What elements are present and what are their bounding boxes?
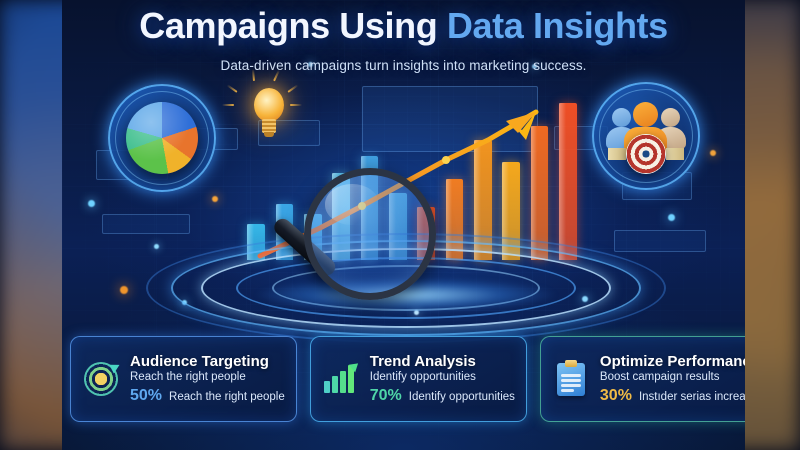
- bokeh-dot: [668, 214, 675, 221]
- hud-rect: [102, 214, 190, 234]
- clipboard-line: [561, 374, 581, 377]
- card-stat-label: Instıder serias increase returns: [639, 391, 745, 403]
- card-text: Trend Analysis Identify opportunities 70…: [370, 353, 515, 405]
- target-dart-icon: [82, 360, 120, 398]
- person-head-center: [633, 102, 658, 127]
- card-title: Optimize Performance: [600, 353, 745, 370]
- clipboard-clip: [565, 360, 577, 367]
- card-stat-row: 50% Reach the right people: [130, 387, 285, 405]
- card-title: Audience Targeting: [130, 353, 285, 370]
- clipboard-body: [557, 363, 585, 396]
- card-trend-analysis[interactable]: Trend Analysis Identify opportunities 70…: [310, 336, 527, 422]
- bokeh-dot: [710, 150, 716, 156]
- bokeh-dot: [88, 200, 95, 207]
- page-subtitle: Data-driven campaigns turn insights into…: [62, 58, 745, 73]
- target-arrow-right: [666, 148, 684, 160]
- bulb-ray: [222, 104, 234, 106]
- card-title: Trend Analysis: [370, 353, 515, 370]
- growth-bar-chart-icon: [322, 360, 360, 398]
- people-target-icon: [592, 82, 700, 190]
- card-percent: 30%: [600, 387, 632, 405]
- card-stat-label: Identify opportunities: [409, 391, 515, 403]
- bokeh-dot: [212, 196, 218, 202]
- card-stat-row: 30% Instıder serias increase returns: [600, 387, 745, 405]
- clipboard-line: [561, 384, 581, 387]
- stats-card-row: Audience Targeting Reach the right peopl…: [70, 336, 737, 422]
- magnifying-glass-icon: [304, 168, 436, 300]
- bullseye-icon: [626, 134, 666, 174]
- infographic-canvas: Campaigns Using Data Insights Data-drive…: [0, 0, 800, 450]
- clipboard-line: [561, 379, 581, 382]
- clipboard-line: [561, 389, 574, 392]
- person-head-left: [612, 108, 631, 127]
- card-stat-label: Reach the right people: [169, 391, 285, 403]
- bokeh-dot: [120, 286, 128, 294]
- mini-bar: [340, 371, 346, 393]
- card-stat-row: 70% Identify opportunities: [370, 387, 515, 405]
- title-accent: Data Insights: [447, 5, 668, 46]
- card-description: Reach the right people: [130, 370, 285, 386]
- card-description: Boost campaign results: [600, 370, 745, 386]
- target-arrow-left: [608, 148, 626, 160]
- card-percent: 50%: [130, 387, 162, 405]
- card-text: Optimize Performance Boost campaign resu…: [600, 353, 745, 405]
- pie-chart-icon: [126, 102, 198, 174]
- title-main: Campaigns Using: [139, 5, 447, 46]
- page-title: Campaigns Using Data Insights: [62, 5, 745, 47]
- card-description: Identify opportunities: [370, 370, 515, 386]
- magnifier-lens: [304, 168, 436, 300]
- audience-target-badge: [592, 82, 700, 190]
- mini-bar: [332, 376, 338, 393]
- mini-bar: [324, 381, 330, 393]
- card-percent: 70%: [370, 387, 402, 405]
- card-optimize-performance[interactable]: Optimize Performance Boost campaign resu…: [540, 336, 745, 422]
- pie-chart-badge: [108, 84, 216, 192]
- person-head-right: [661, 108, 680, 127]
- clipboard-icon: [552, 360, 590, 398]
- card-audience-targeting[interactable]: Audience Targeting Reach the right peopl…: [70, 336, 297, 422]
- main-artwork-panel: Campaigns Using Data Insights Data-drive…: [62, 0, 745, 450]
- card-text: Audience Targeting Reach the right peopl…: [130, 353, 285, 405]
